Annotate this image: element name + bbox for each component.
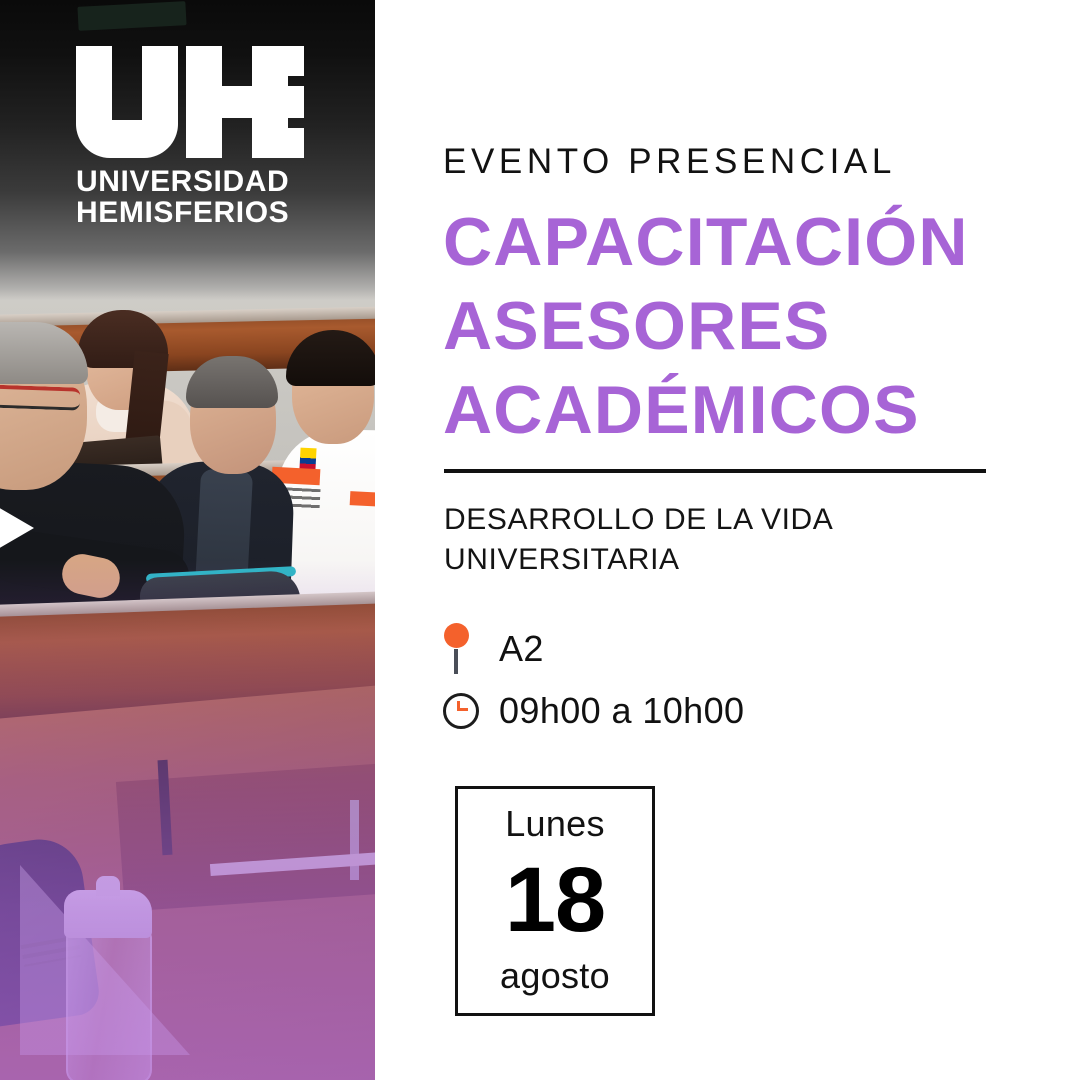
event-photo-panel[interactable]: UNIVERSIDAD HEMISFERIOS [0, 0, 375, 1080]
water-bottle-cap [64, 890, 152, 938]
play-triangle-icon[interactable] [0, 492, 34, 564]
flag-patch [299, 448, 316, 471]
title-divider [444, 469, 986, 473]
event-title: CAPACITACIÓN ASESORES ACADÉMICOS [443, 200, 969, 452]
map-pin-icon [443, 623, 499, 675]
event-details: EVENTO PRESENCIAL CAPACITACIÓN ASESORES … [443, 0, 1043, 1080]
table-post-secondary [350, 800, 359, 880]
event-type-label: EVENTO PRESENCIAL [443, 142, 896, 182]
uhe-logo-wordmark: UNIVERSIDAD HEMISFERIOS [76, 166, 304, 228]
event-location-row: A2 [443, 618, 1003, 680]
event-time-row: 09h00 a 10h00 [443, 680, 1003, 742]
uhe-logo: UNIVERSIDAD HEMISFERIOS [76, 46, 304, 228]
event-date-day: 18 [505, 854, 605, 946]
event-meta-list: A2 09h00 a 10h00 [443, 618, 1003, 742]
event-time-value: 09h00 a 10h00 [499, 690, 744, 732]
uniform-badge-secondary [350, 491, 375, 507]
event-poster: UNIVERSIDAD HEMISFERIOS EVENTO PRESENCIA… [0, 0, 1080, 1080]
uhe-monogram-icon [76, 46, 304, 158]
water-bottle [66, 930, 152, 1080]
water-bottle-spout [96, 876, 120, 896]
event-location-value: A2 [499, 628, 544, 670]
clock-icon [443, 693, 499, 729]
event-date-month: agosto [500, 955, 610, 997]
eyeglasses [0, 384, 80, 410]
event-date-card: Lunes 18 agosto [455, 786, 655, 1016]
event-subtitle: DESARROLLO DE LA VIDA UNIVERSITARIA [444, 500, 833, 580]
event-date-weekday: Lunes [505, 803, 605, 845]
